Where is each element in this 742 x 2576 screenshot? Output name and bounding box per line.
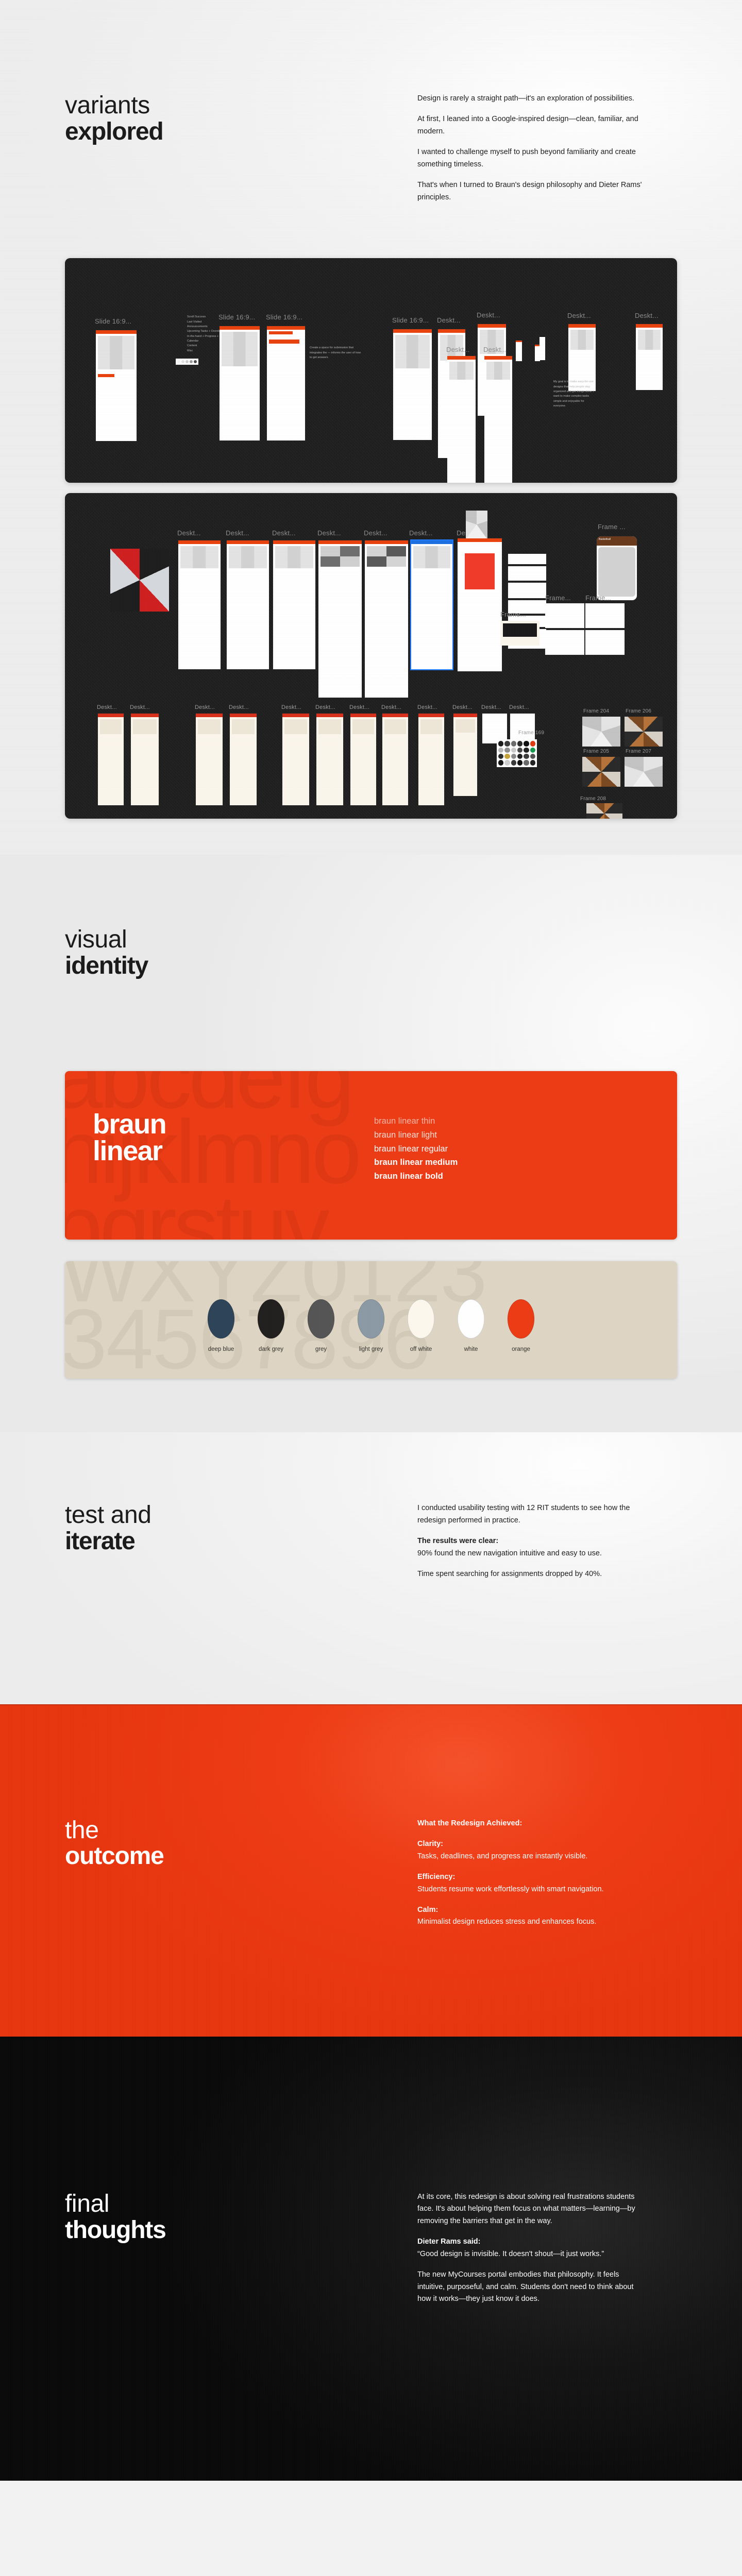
swatch-dot bbox=[408, 1299, 434, 1338]
final-thoughts-quote-block: Dieter Rams said: “Good design is invisi… bbox=[417, 2236, 644, 2260]
variants-title-strong: explored bbox=[65, 119, 417, 145]
test-iterate-paragraph-1: I conducted usability testing with 12 RI… bbox=[417, 1502, 644, 1527]
frame-207-thumbnail bbox=[625, 757, 663, 787]
variants-title-col: variants explored bbox=[0, 93, 417, 204]
swatch-row: deep blue dark grey grey light grey off … bbox=[65, 1299, 677, 1352]
swatch-dot bbox=[358, 1299, 384, 1338]
outcome-item-text: Minimalist design reduces stress and enh… bbox=[417, 1918, 596, 1926]
wordmark-line-2: linear bbox=[93, 1138, 166, 1165]
mock-cream-6 bbox=[316, 714, 343, 805]
outcome-item-label: Clarity: bbox=[417, 1840, 443, 1848]
canvas-annotation-one: Create a space for submission that integ… bbox=[310, 346, 364, 360]
frame-label: Deskt... bbox=[635, 312, 659, 319]
frame-label: Deskt... bbox=[364, 529, 387, 537]
mock-desktop-a bbox=[178, 540, 221, 669]
outcome-body-col: What the Redesign Achieved: Clarity: Tas… bbox=[417, 1818, 742, 1928]
frame-label: Frame ... bbox=[598, 523, 626, 531]
swatch-label: orange bbox=[508, 1346, 534, 1352]
frame-204-thumbnail bbox=[582, 717, 620, 747]
frame-label: Frame 207 bbox=[626, 749, 651, 754]
wordmark-line-1: braun bbox=[93, 1111, 166, 1138]
frame-205-thumbnail bbox=[582, 757, 620, 787]
mock-desktop-9 bbox=[636, 324, 663, 390]
swatch-dark-grey: dark grey bbox=[258, 1299, 284, 1352]
canvas-annotation-two: My goal is to make easy-for-use designs … bbox=[553, 380, 597, 409]
typeface-card: abcdefg hijklmno pqrstuv braun linear br… bbox=[65, 1071, 677, 1240]
figma-canvas-screenshot-two: Deskt... Deskt... Deskt... Deskt... Des bbox=[65, 493, 677, 819]
frame-label: Frame... bbox=[545, 594, 571, 602]
frame-label: Slide 16:9... bbox=[392, 316, 429, 324]
basketball-label: Basketball bbox=[599, 538, 611, 541]
mock-slide-1 bbox=[96, 330, 137, 441]
frame-label: Deskt... bbox=[481, 704, 501, 710]
mock-cream-4 bbox=[230, 714, 257, 805]
mock-desktop-d bbox=[318, 540, 362, 698]
frame-label: Frame... bbox=[585, 594, 611, 602]
typeface-wordmark: braun linear bbox=[93, 1111, 166, 1165]
mock-desktop-e bbox=[365, 540, 408, 698]
mock-desktop-f-selected[interactable] bbox=[411, 540, 452, 669]
variants-paragraph-4: That's when I turned to Braun's design p… bbox=[417, 179, 644, 204]
swatch-dot bbox=[458, 1299, 484, 1338]
frame-label: Deskt... bbox=[567, 312, 591, 319]
mock-cream-5 bbox=[282, 714, 309, 805]
frame-label: Deskt... bbox=[130, 704, 150, 710]
variants-paragraph-3: I wanted to challenge myself to push bey… bbox=[417, 146, 644, 171]
test-iterate-results: The results were clear: 90% found the ne… bbox=[417, 1535, 644, 1560]
frame-label: Deskt... bbox=[229, 704, 249, 710]
weight-light: braun linear light bbox=[374, 1128, 458, 1142]
mock-detail-card-3 bbox=[508, 583, 546, 598]
outcome-heading-text: What the Redesign Achieved: bbox=[417, 1819, 522, 1827]
frame-label: Slide 16:9... bbox=[95, 317, 131, 325]
frame-label: Frame 205 bbox=[583, 749, 609, 754]
mock-cream-2 bbox=[131, 714, 159, 805]
final-thoughts-title-strong: thoughts bbox=[65, 2217, 417, 2244]
quote-attribution: Dieter Rams said: bbox=[417, 2238, 481, 2246]
test-iterate-body-copy: I conducted usability testing with 12 RI… bbox=[417, 1502, 644, 1580]
test-iterate-paragraph-3: Time spent searching for assignments dro… bbox=[417, 1568, 644, 1580]
swatch-dot bbox=[508, 1299, 534, 1338]
frame-label: Deskt... bbox=[281, 704, 301, 710]
mock-thumb-a bbox=[545, 603, 584, 628]
frame-label: Deskt... bbox=[195, 704, 215, 710]
page-title: visual identity bbox=[65, 927, 417, 979]
frame-label: Deskt... bbox=[317, 529, 341, 537]
swatch-label: dark grey bbox=[258, 1346, 284, 1352]
outcome-item-efficiency: Efficiency: Students resume work effortl… bbox=[417, 1871, 644, 1895]
swatch-orange: orange bbox=[508, 1299, 534, 1352]
swatch-label: grey bbox=[308, 1346, 334, 1352]
outcome-item-calm: Calm: Minimalist design reduces stress a… bbox=[417, 1904, 644, 1928]
mock-desktop-5 bbox=[539, 335, 545, 360]
final-thoughts-title-col: final thoughts bbox=[0, 2191, 417, 2306]
test-iterate-results-heading: The results were clear: bbox=[417, 1537, 498, 1545]
swatch-label: white bbox=[458, 1346, 484, 1352]
visual-identity-title-light: visual bbox=[65, 926, 127, 953]
outcome-title-light: the bbox=[65, 1817, 99, 1844]
frame-208-thumbnail bbox=[586, 803, 622, 819]
section-divider-rule bbox=[0, 1704, 742, 1705]
section-the-outcome: the outcome What the Redesign Achieved: … bbox=[0, 1704, 742, 2037]
swatch-label: deep blue bbox=[208, 1346, 234, 1352]
color-dot-grid bbox=[497, 739, 537, 767]
mock-thumb-e bbox=[585, 630, 625, 655]
variants-paragraph-2: At first, I leaned into a Google-inspire… bbox=[417, 113, 644, 138]
mock-slide-3 bbox=[267, 326, 305, 440]
swatch-deep-blue: deep blue bbox=[208, 1299, 234, 1352]
frame-label: Frame 169 bbox=[518, 730, 544, 736]
mock-cream-10 bbox=[453, 714, 477, 796]
visual-identity-title-col: visual identity bbox=[0, 927, 417, 979]
section-final-thoughts: final thoughts At its core, this redesig… bbox=[0, 2037, 742, 2481]
frame-label: Slide 16:9... bbox=[266, 313, 302, 321]
final-thoughts-title-light: final bbox=[65, 2190, 109, 2217]
rams-quote: “Good design is invisible. It doesn't sh… bbox=[417, 2250, 604, 2258]
weight-bold: braun linear bold bbox=[374, 1170, 458, 1183]
variants-title-light: variants bbox=[65, 92, 150, 119]
outcome-item-label: Calm: bbox=[417, 1906, 438, 1914]
weight-medium: braun linear medium bbox=[374, 1156, 458, 1170]
outcome-heading: What the Redesign Achieved: bbox=[417, 1818, 644, 1829]
frame-label: Deskt... bbox=[452, 704, 473, 710]
frame-label: Deskt... bbox=[177, 529, 201, 537]
section-variants-explored: variants explored Design is rarely a str… bbox=[0, 0, 742, 855]
frame-label: Deskt... bbox=[315, 704, 335, 710]
frame-label: Deskt... bbox=[446, 346, 470, 353]
figma-canvas-screenshot-one: Slide 16:9... Scroll Success Last Visite… bbox=[65, 258, 677, 483]
weight-regular: braun linear regular bbox=[374, 1142, 458, 1156]
mock-desktop-b bbox=[227, 540, 269, 669]
mock-slide-4 bbox=[393, 329, 432, 440]
frame-label: Frame 208 bbox=[580, 796, 606, 802]
frame-label: Deskt... bbox=[226, 529, 249, 537]
outcome-block: the outcome What the Redesign Achieved: … bbox=[0, 1818, 742, 1928]
page-title: final thoughts bbox=[65, 2191, 417, 2244]
swatch-label: off white bbox=[408, 1346, 434, 1352]
outcome-item-label: Efficiency: bbox=[417, 1873, 455, 1881]
mock-detail-card-2 bbox=[508, 566, 546, 581]
frame-label: Deskt... bbox=[381, 704, 401, 710]
mock-desktop-g bbox=[458, 538, 502, 671]
swatch-label: light grey bbox=[358, 1346, 384, 1352]
component-sheet-thumbnail bbox=[110, 549, 169, 612]
mock-cream-3 bbox=[196, 714, 223, 805]
swatch-dot bbox=[308, 1299, 334, 1338]
swatch-dot bbox=[258, 1299, 284, 1338]
mock-detail-card-1 bbox=[508, 554, 546, 564]
variants-paragraph-1: Design is rarely a straight path—it's an… bbox=[417, 93, 644, 105]
mock-cream-9 bbox=[418, 714, 444, 805]
mock-thumb-d bbox=[545, 630, 584, 655]
final-thoughts-intro: At its core, this redesign is about solv… bbox=[417, 2191, 644, 2227]
mock-thumb-b bbox=[585, 603, 625, 628]
swatch-white: white bbox=[458, 1299, 484, 1352]
frame-label: Deskt... bbox=[272, 529, 296, 537]
test-iterate-title-strong: iterate bbox=[65, 1529, 417, 1555]
swatch-dot bbox=[208, 1299, 234, 1338]
frame-label: Deskt... bbox=[409, 529, 433, 537]
mock-cream-8 bbox=[382, 714, 408, 805]
page-title: the outcome bbox=[65, 1818, 417, 1870]
frame-label: Deskt... bbox=[437, 316, 461, 324]
typeface-weight-list: braun linear thin braun linear light bra… bbox=[374, 1114, 458, 1183]
mock-desktop-8 bbox=[484, 356, 512, 483]
frame-label: Deskt... bbox=[349, 704, 369, 710]
frame-label: Deskt... bbox=[97, 704, 117, 710]
outcome-item-text: Students resume work effortlessly with s… bbox=[417, 1885, 604, 1893]
swatch-off-white: off white bbox=[408, 1299, 434, 1352]
mock-mobile-frame: Basketball bbox=[597, 536, 637, 600]
outcome-item-text: Tasks, deadlines, and progress are insta… bbox=[417, 1852, 587, 1860]
final-thoughts-body-copy: At its core, this redesign is about solv… bbox=[417, 2191, 644, 2306]
mock-slide-2 bbox=[220, 326, 260, 440]
frame-label: Deskt... bbox=[483, 346, 507, 353]
outcome-title-strong: outcome bbox=[65, 1843, 417, 1870]
variants-header-block: variants explored Design is rarely a str… bbox=[0, 93, 742, 204]
page-title: variants explored bbox=[65, 93, 417, 145]
test-iterate-results-text: 90% found the new navigation intuitive a… bbox=[417, 1549, 602, 1557]
mock-desktop-c bbox=[273, 540, 315, 669]
mock-cream-1 bbox=[98, 714, 124, 805]
frame-label: Frame... bbox=[500, 611, 526, 618]
visual-identity-title-strong: identity bbox=[65, 953, 417, 979]
mock-desktop-7 bbox=[447, 356, 476, 483]
visual-identity-header-block: visual identity bbox=[0, 927, 742, 979]
test-iterate-block: test and iterate I conducted usability t… bbox=[0, 1502, 742, 1580]
case-study-page: variants explored Design is rarely a str… bbox=[0, 0, 742, 2481]
frame-label: Deskt... bbox=[509, 704, 529, 710]
mock-cream-7 bbox=[350, 714, 376, 805]
page-title: test and iterate bbox=[65, 1502, 417, 1555]
final-thoughts-body-col: At its core, this redesign is about solv… bbox=[417, 2191, 742, 2306]
test-iterate-title-light: test and bbox=[65, 1501, 151, 1529]
thumbnail-device bbox=[466, 511, 487, 538]
variants-body-col: Design is rarely a straight path—it's an… bbox=[417, 93, 742, 204]
canvas-swatch-strip bbox=[176, 359, 198, 365]
final-thoughts-block: final thoughts At its core, this redesig… bbox=[0, 2191, 742, 2306]
swatch-light-grey: light grey bbox=[358, 1299, 384, 1352]
swatch-grey: grey bbox=[308, 1299, 334, 1352]
test-iterate-body-col: I conducted usability testing with 12 RI… bbox=[417, 1502, 742, 1580]
outcome-item-clarity: Clarity: Tasks, deadlines, and progress … bbox=[417, 1838, 644, 1862]
outcome-body-copy: What the Redesign Achieved: Clarity: Tas… bbox=[417, 1818, 644, 1928]
variants-body-copy: Design is rarely a straight path—it's an… bbox=[417, 93, 644, 204]
frame-label: Deskt... bbox=[477, 311, 500, 319]
frame-206-thumbnail bbox=[625, 717, 663, 747]
mock-thumb-c bbox=[500, 621, 539, 646]
mock-desktop-3 bbox=[516, 341, 522, 361]
weight-thin: braun linear thin bbox=[374, 1114, 458, 1128]
section-test-and-iterate: test and iterate I conducted usability t… bbox=[0, 1432, 742, 1704]
final-thoughts-closing: The new MyCourses portal embodies that p… bbox=[417, 2269, 644, 2305]
outcome-title-col: the outcome bbox=[0, 1818, 417, 1928]
test-iterate-title-col: test and iterate bbox=[0, 1502, 417, 1580]
frame-label: Deskt... bbox=[417, 704, 437, 710]
section-visual-identity: visual identity abcdefg hijklmno pqrstuv… bbox=[0, 855, 742, 1432]
color-palette-panel: WXYZ0123 34567896 deep blue dark grey gr… bbox=[65, 1261, 677, 1379]
frame-label: Frame 204 bbox=[583, 708, 609, 714]
frame-label: Slide 16:9... bbox=[218, 313, 255, 321]
frame-label: Frame 206 bbox=[626, 708, 651, 714]
typeface-ghost-row-3: pqrstuv bbox=[65, 1192, 677, 1240]
